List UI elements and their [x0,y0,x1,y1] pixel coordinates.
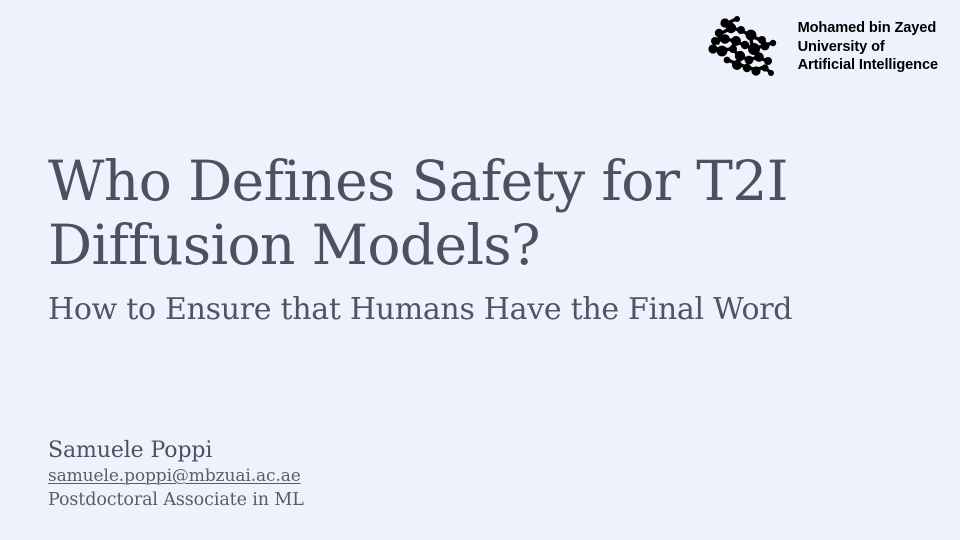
university-logo-text: Mohamed bin Zayed University of Artifici… [798,19,938,75]
slide-title-line-2: Diffusion Models? [48,214,748,278]
slide-title: Who Defines Safety for T2I Diffusion Mod… [48,150,748,278]
logo-text-line-1: Mohamed bin Zayed [798,19,938,38]
title-slide: Mohamed bin Zayed University of Artifici… [0,0,960,540]
logo-text-line-2: University of [798,38,938,57]
author-email-link[interactable]: samuele.poppi@mbzuai.ac.ae [48,465,301,488]
slide-title-line-1: Who Defines Safety for T2I [48,150,748,214]
author-role: Postdoctoral Associate in ML [48,488,304,513]
slide-subtitle: How to Ensure that Humans Have the Final… [48,292,792,328]
author-block: Samuele Poppi samuele.poppi@mbzuai.ac.ae… [48,437,304,513]
university-logo: Mohamed bin Zayed University of Artifici… [706,14,938,80]
mbzuai-network-nodes-logo-icon [706,14,788,80]
author-name: Samuele Poppi [48,437,304,465]
logo-text-line-3: Artificial Intelligence [798,56,938,75]
